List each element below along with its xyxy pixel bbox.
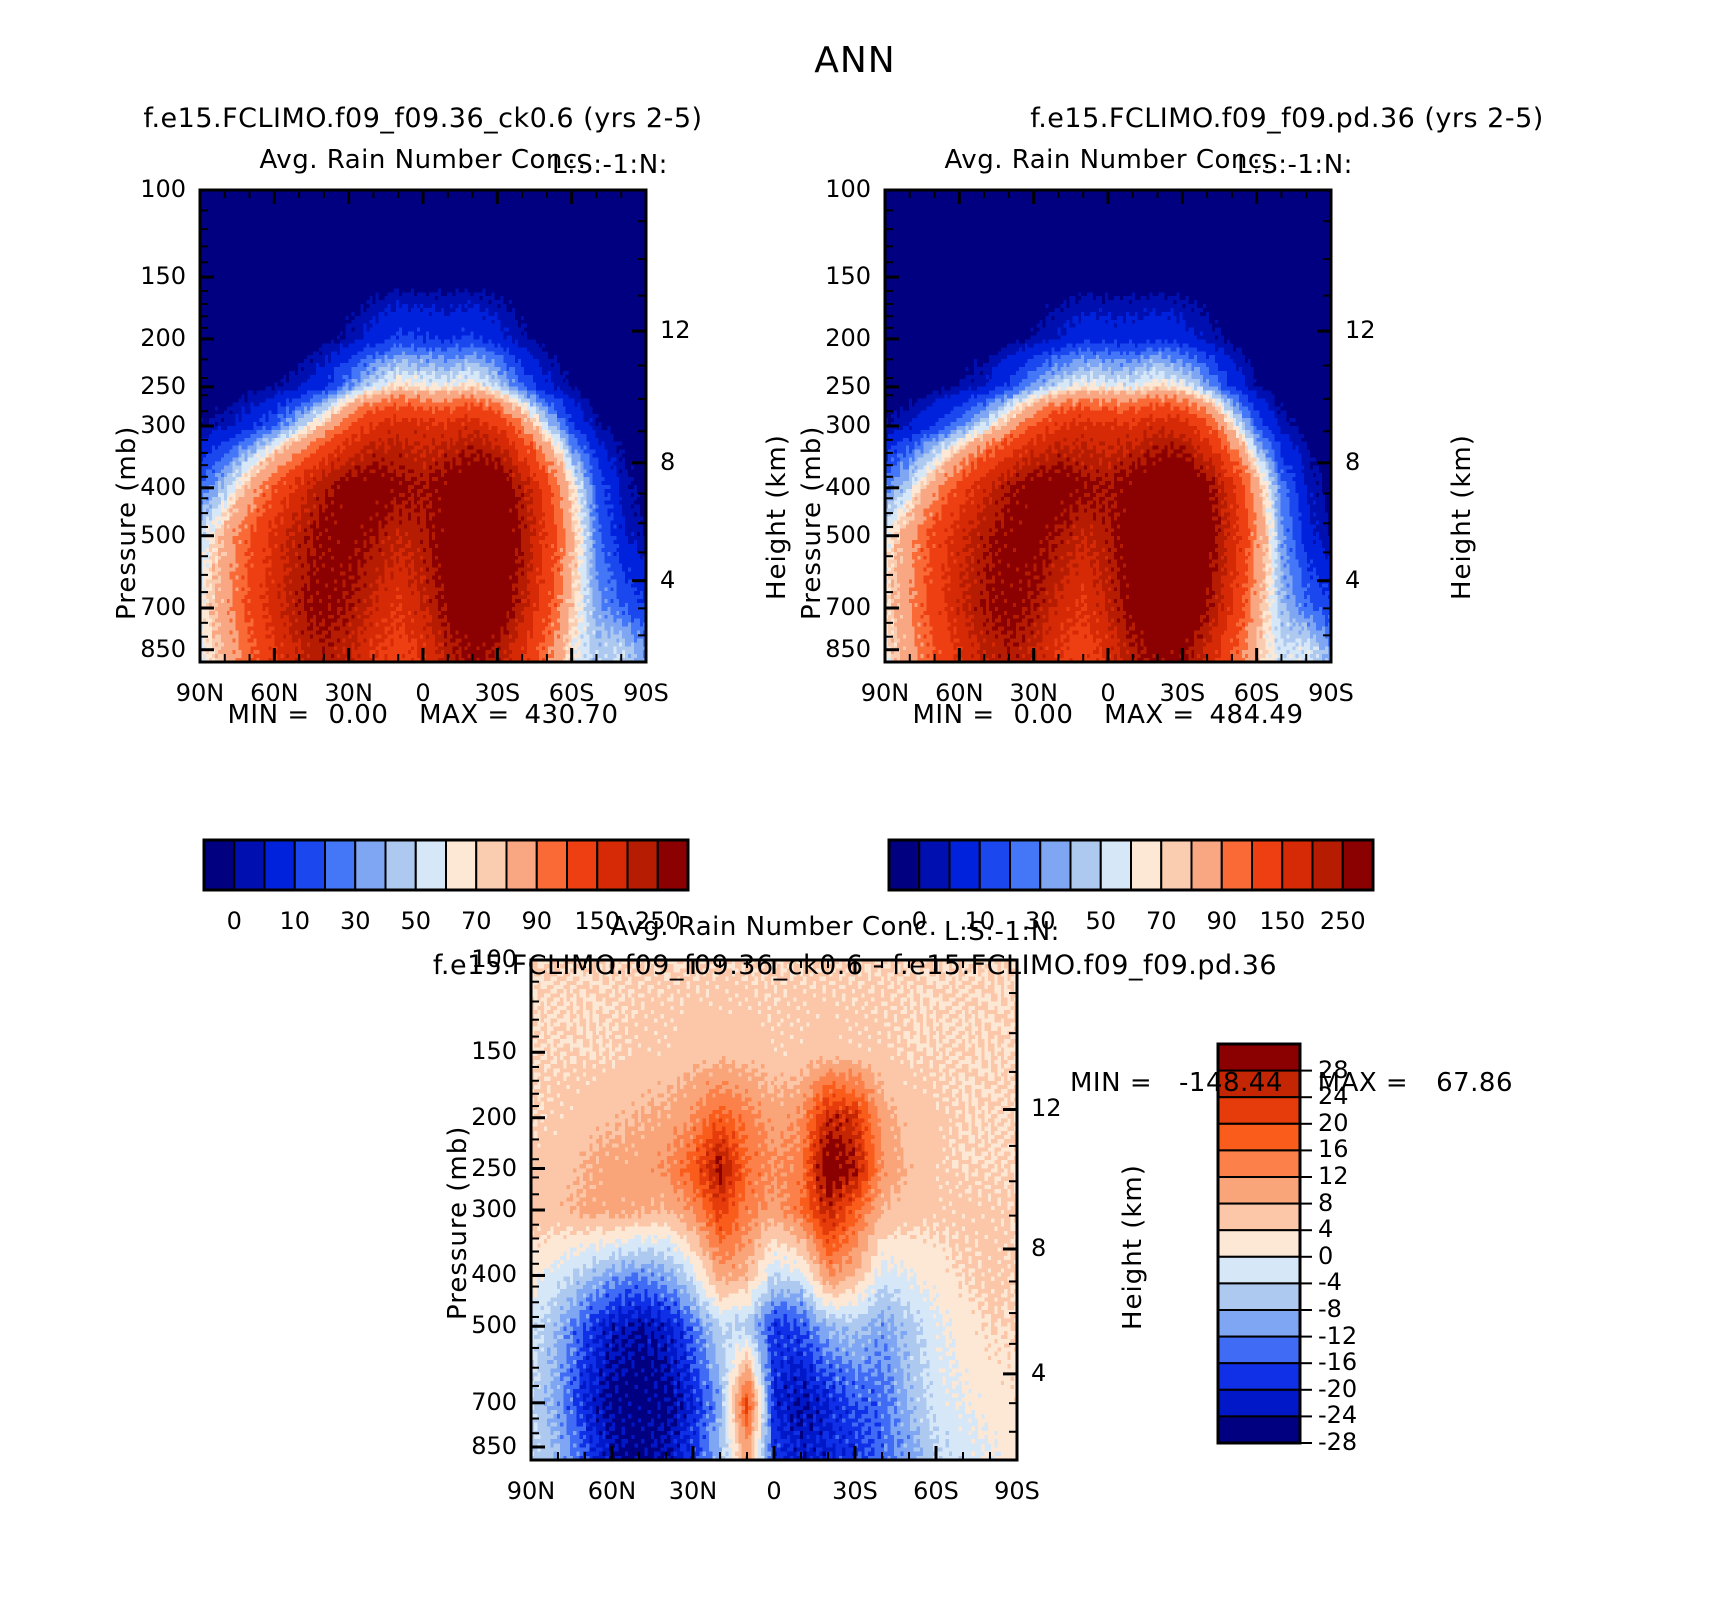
- cbar-label-test-250: 250: [598, 907, 718, 935]
- ytick-control-300: 300: [0, 411, 871, 439]
- ytick-difference-500: 500: [0, 1311, 517, 1339]
- ytick-control-200: 200: [0, 324, 871, 352]
- ytick-difference-200: 200: [0, 1103, 517, 1131]
- htick-control-8: 8: [1345, 448, 1360, 476]
- dcbar-label-neg12: -12: [1318, 1322, 1357, 1350]
- htick-test-4: 4: [660, 566, 675, 594]
- tick-label-layer: 100150200250300400500700850128490N60N30N…: [0, 0, 1710, 1616]
- htick-difference-8: 8: [1031, 1234, 1046, 1262]
- dcbar-label-20: 20: [1318, 1109, 1349, 1137]
- xtick-difference-90S: 90S: [957, 1477, 1077, 1505]
- dcbar-label-neg4: -4: [1318, 1268, 1342, 1296]
- dcbar-label-neg8: -8: [1318, 1295, 1342, 1323]
- xtick-test-90S: 90S: [586, 679, 706, 707]
- dcbar-label-neg28: -28: [1318, 1428, 1357, 1456]
- dcbar-label-4: 4: [1318, 1215, 1333, 1243]
- ytick-control-700: 700: [0, 593, 871, 621]
- ytick-difference-250: 250: [0, 1154, 517, 1182]
- htick-control-12: 12: [1345, 316, 1376, 344]
- htick-control-4: 4: [1345, 566, 1360, 594]
- dcbar-label-16: 16: [1318, 1135, 1349, 1163]
- ytick-control-400: 400: [0, 473, 871, 501]
- ytick-difference-850: 850: [0, 1432, 517, 1460]
- ytick-control-100: 100: [0, 175, 871, 203]
- cbar-label-control-250: 250: [1283, 907, 1403, 935]
- ytick-difference-400: 400: [0, 1260, 517, 1288]
- dcbar-label-neg24: -24: [1318, 1401, 1357, 1429]
- dcbar-label-neg20: -20: [1318, 1375, 1357, 1403]
- dcbar-label-neg16: -16: [1318, 1348, 1357, 1376]
- ytick-control-500: 500: [0, 521, 871, 549]
- ytick-control-250: 250: [0, 372, 871, 400]
- dcbar-label-0: 0: [1318, 1242, 1333, 1270]
- ytick-difference-300: 300: [0, 1195, 517, 1223]
- ytick-difference-700: 700: [0, 1388, 517, 1416]
- ytick-difference-100: 100: [0, 945, 517, 973]
- dcbar-label-12: 12: [1318, 1162, 1349, 1190]
- htick-difference-12: 12: [1031, 1094, 1062, 1122]
- dcbar-label-24: 24: [1318, 1082, 1349, 1110]
- htick-test-8: 8: [660, 448, 675, 476]
- ytick-control-150: 150: [0, 262, 871, 290]
- htick-difference-4: 4: [1031, 1359, 1046, 1387]
- xtick-control-90S: 90S: [1271, 679, 1391, 707]
- dcbar-label-8: 8: [1318, 1189, 1333, 1217]
- ytick-difference-150: 150: [0, 1037, 517, 1065]
- ytick-control-850: 850: [0, 635, 871, 663]
- dcbar-label-28: 28: [1318, 1056, 1349, 1084]
